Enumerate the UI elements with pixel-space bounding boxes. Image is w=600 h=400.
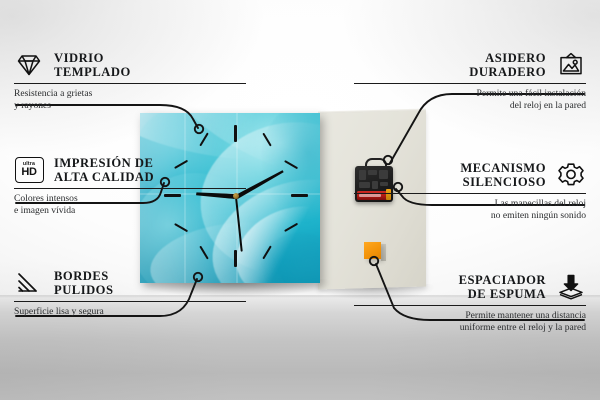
feature-heading: VIDRIO TEMPLADO <box>14 50 246 80</box>
feature-heading: ultra HD IMPRESIÓN DE ALTA CALIDAD <box>14 155 246 185</box>
feature-bordes-pulidos[interactable]: BORDES PULIDOS Superficie lisa y segura <box>14 268 246 318</box>
feature-divider <box>354 83 586 84</box>
polished-edges-icon <box>14 268 44 298</box>
feature-title: ASIDERO DURADERO <box>469 51 546 80</box>
feature-heading: ESPACIADOR DE ESPUMA <box>354 272 586 302</box>
feature-description: Permite mantener una distancia uniforme … <box>354 310 586 333</box>
feature-title: BORDES PULIDOS <box>54 269 113 298</box>
feature-title: IMPRESIÓN DE ALTA CALIDAD <box>54 156 154 185</box>
feature-title: MECANISMO SILENCIOSO <box>460 161 546 190</box>
foam-spacer-pad <box>364 242 381 259</box>
feature-divider <box>14 188 246 189</box>
ultra-hd-icon: ultra HD <box>14 155 44 185</box>
infographic-canvas: VIDRIO TEMPLADO Resistencia a grietas y … <box>0 0 600 400</box>
hour-mark-12 <box>234 125 237 142</box>
feature-description: Superficie lisa y segura <box>14 306 246 318</box>
foam-spacer-pad-side <box>381 244 386 261</box>
hour-mark-6 <box>234 250 237 267</box>
feature-title: ESPACIADOR DE ESPUMA <box>459 273 546 302</box>
feature-divider <box>14 301 246 302</box>
feature-impresion-alta-calidad[interactable]: ultra HD IMPRESIÓN DE ALTA CALIDAD Color… <box>14 155 246 217</box>
feature-description: Permite una fácil instalación del reloj … <box>354 88 586 111</box>
feature-title: VIDRIO TEMPLADO <box>54 51 131 80</box>
feature-divider <box>354 193 586 194</box>
feature-divider <box>14 83 246 84</box>
down-arrow-pad-icon <box>556 272 586 302</box>
hour-mark-3 <box>291 194 308 197</box>
feature-description: Resistencia a grietas y rayones <box>14 88 246 111</box>
picture-frame-hook-icon <box>556 50 586 80</box>
feature-espaciador-de-espuma[interactable]: ESPACIADOR DE ESPUMA Permite mantener un… <box>354 272 586 334</box>
gear-icon <box>556 160 586 190</box>
feature-mecanismo-silencioso[interactable]: MECANISMO SILENCIOSO Las manecillas del … <box>354 160 586 222</box>
feature-vidrio-templado[interactable]: VIDRIO TEMPLADO Resistencia a grietas y … <box>14 50 246 112</box>
feature-asidero-duradero[interactable]: ASIDERO DURADERO Permite una fácil insta… <box>354 50 586 112</box>
feature-description: Las manecillas del reloj no emiten ningú… <box>354 198 586 221</box>
feature-heading: BORDES PULIDOS <box>14 268 246 298</box>
diamond-icon <box>14 50 44 80</box>
feature-heading: ASIDERO DURADERO <box>354 50 586 80</box>
feature-heading: MECANISMO SILENCIOSO <box>354 160 586 190</box>
feature-description: Colores intensos e imagen vívida <box>14 193 246 216</box>
ultra-hd-main-label: HD <box>21 167 36 178</box>
feature-divider <box>354 305 586 306</box>
